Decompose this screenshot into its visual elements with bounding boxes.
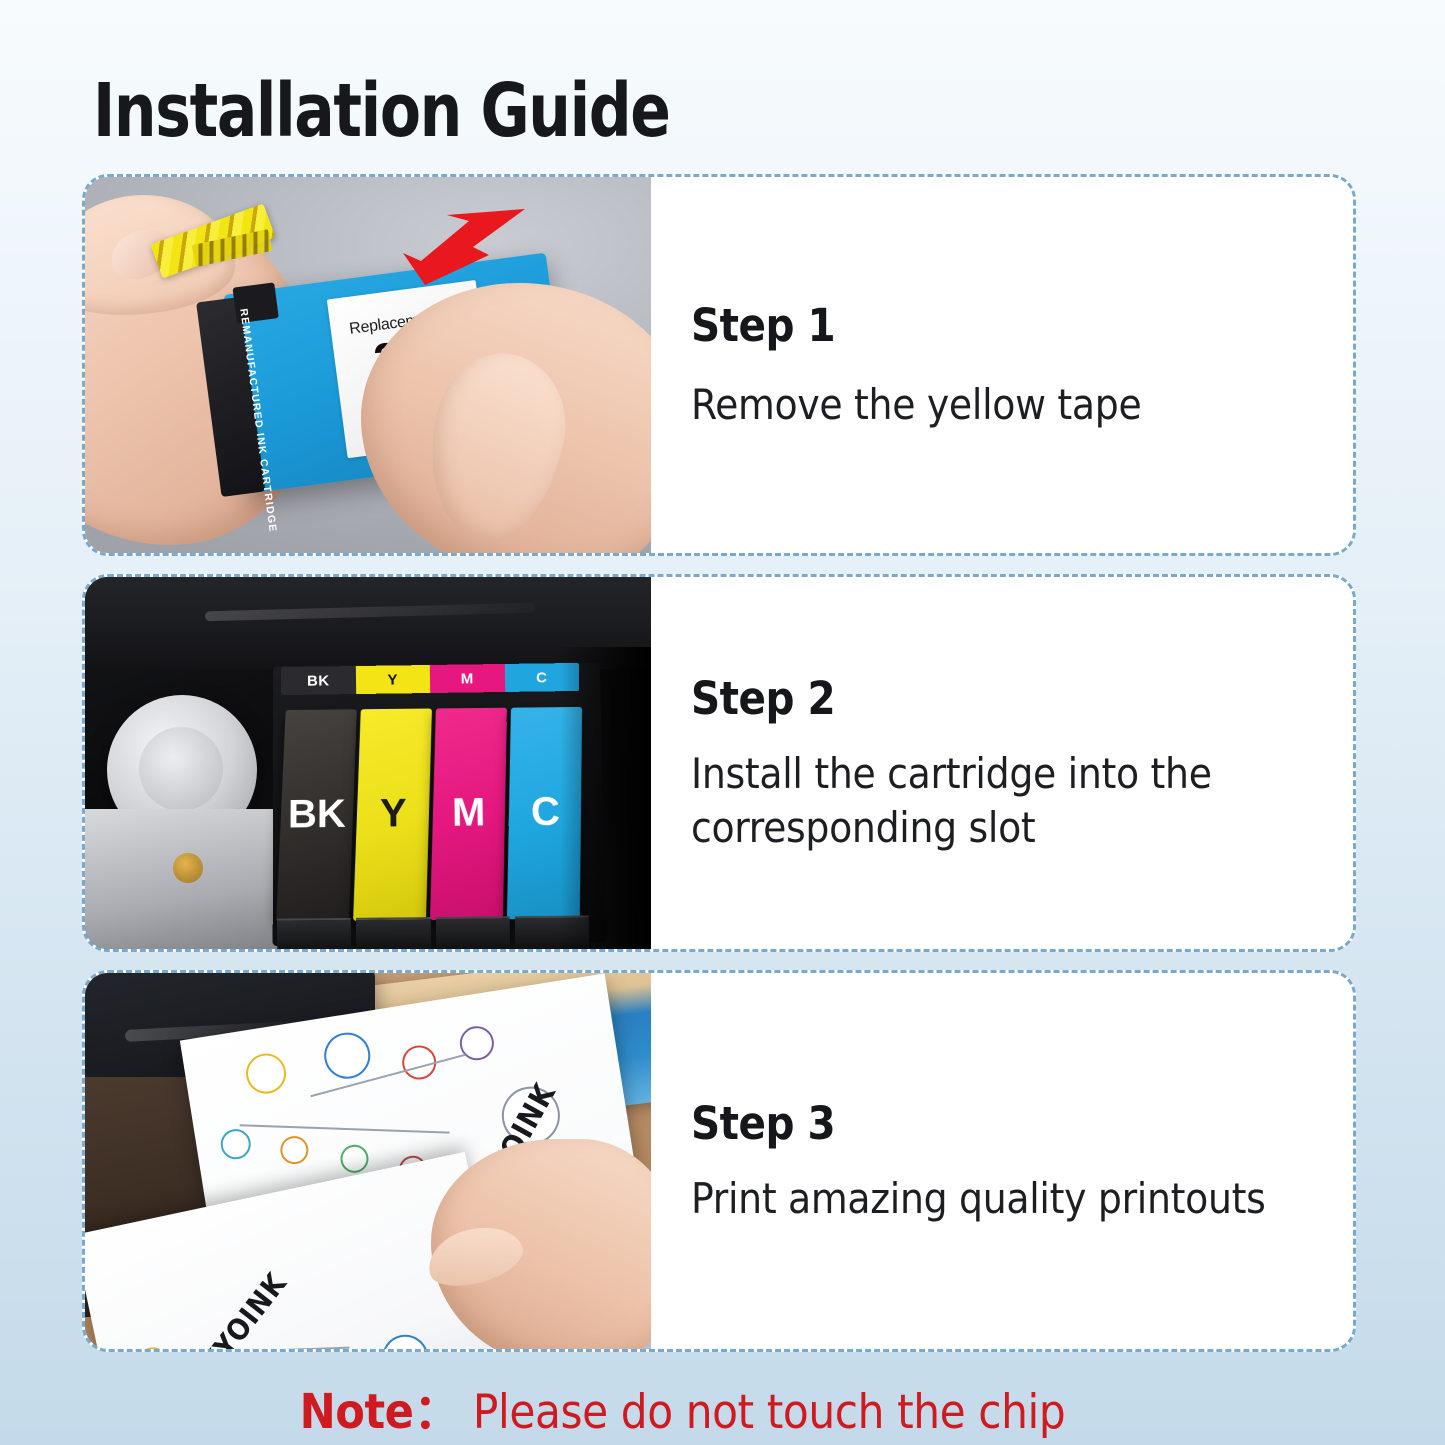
legend-y: Y	[355, 665, 430, 694]
infographic-donut	[378, 1331, 433, 1349]
step-2-text-block: Step 2 Install the cartridge into the co…	[651, 577, 1353, 949]
slot-yellow: Y	[353, 708, 432, 920]
infographic-connector	[240, 1124, 450, 1133]
infographic-node	[457, 1024, 496, 1063]
step-1-body: Remove the yellow tape	[691, 378, 1271, 432]
slot-base-2	[356, 917, 431, 949]
step-2-heading: Step 2	[691, 672, 1353, 725]
step-1-text-block: Step 1 Remove the yellow tape	[651, 177, 1353, 553]
photo-right-shadow	[561, 647, 651, 949]
cartridge-in-hand-photo: REMANUFACTURED INK CARTRIDGE Replacement…	[85, 177, 651, 553]
printed-documents-photo: TOKYOINK TOKYOINK	[85, 973, 651, 1349]
slot-bases	[277, 915, 589, 949]
step-3-heading: Step 3	[691, 1097, 1353, 1150]
slot-cyan-label: C	[530, 789, 560, 834]
brand-label-front: TOKYOINK	[168, 1266, 293, 1349]
note-text: Please do not touch the chip	[473, 1385, 1065, 1440]
printer-roller-inner	[139, 727, 223, 811]
infographic-node	[243, 1051, 289, 1097]
step-1-heading: Step 1	[691, 299, 1353, 352]
step-2-body: Install the cartridge into the correspon…	[691, 747, 1271, 855]
infographic-node	[219, 1127, 253, 1161]
cartridge-slot-row: BK Y M C	[280, 707, 584, 922]
infographic-node	[338, 1143, 370, 1175]
slot-base-3	[435, 916, 510, 949]
infographic-connector	[159, 1347, 349, 1349]
legend-bk: BK	[281, 666, 356, 695]
slot-legend-strip: BK Y M C	[281, 663, 579, 695]
slot-black-label: BK	[288, 791, 346, 837]
step-3-body: Print amazing quality printouts	[691, 1172, 1271, 1226]
step-3-text-block: Step 3 Print amazing quality printouts	[651, 973, 1353, 1349]
legend-m: M	[430, 664, 505, 693]
slot-magenta-label: M	[452, 790, 486, 835]
printer-gear	[173, 853, 203, 883]
page-title: Installation Guide	[93, 68, 670, 154]
step-panel-1: REMANUFACTURED INK CARTRIDGE Replacement…	[82, 174, 1356, 556]
step-panel-3: TOKYOINK TOKYOINK Step 3 Print amazing q…	[82, 970, 1356, 1352]
infographic-node	[133, 1344, 173, 1349]
note-line: Note：Please do not touch the chip	[0, 1372, 1445, 1442]
infographic-node	[321, 1029, 374, 1082]
printer-cartridge-slots-photo: BK Y M C BK Y M C	[85, 577, 651, 949]
slot-magenta: M	[430, 708, 507, 920]
step-panel-2: BK Y M C BK Y M C Step	[82, 574, 1356, 952]
slot-yellow-label: Y	[380, 791, 407, 836]
slot-black: BK	[276, 709, 357, 921]
note-label: Note：	[300, 1384, 461, 1440]
slot-base-1	[277, 918, 352, 949]
infographic-node	[278, 1134, 310, 1166]
